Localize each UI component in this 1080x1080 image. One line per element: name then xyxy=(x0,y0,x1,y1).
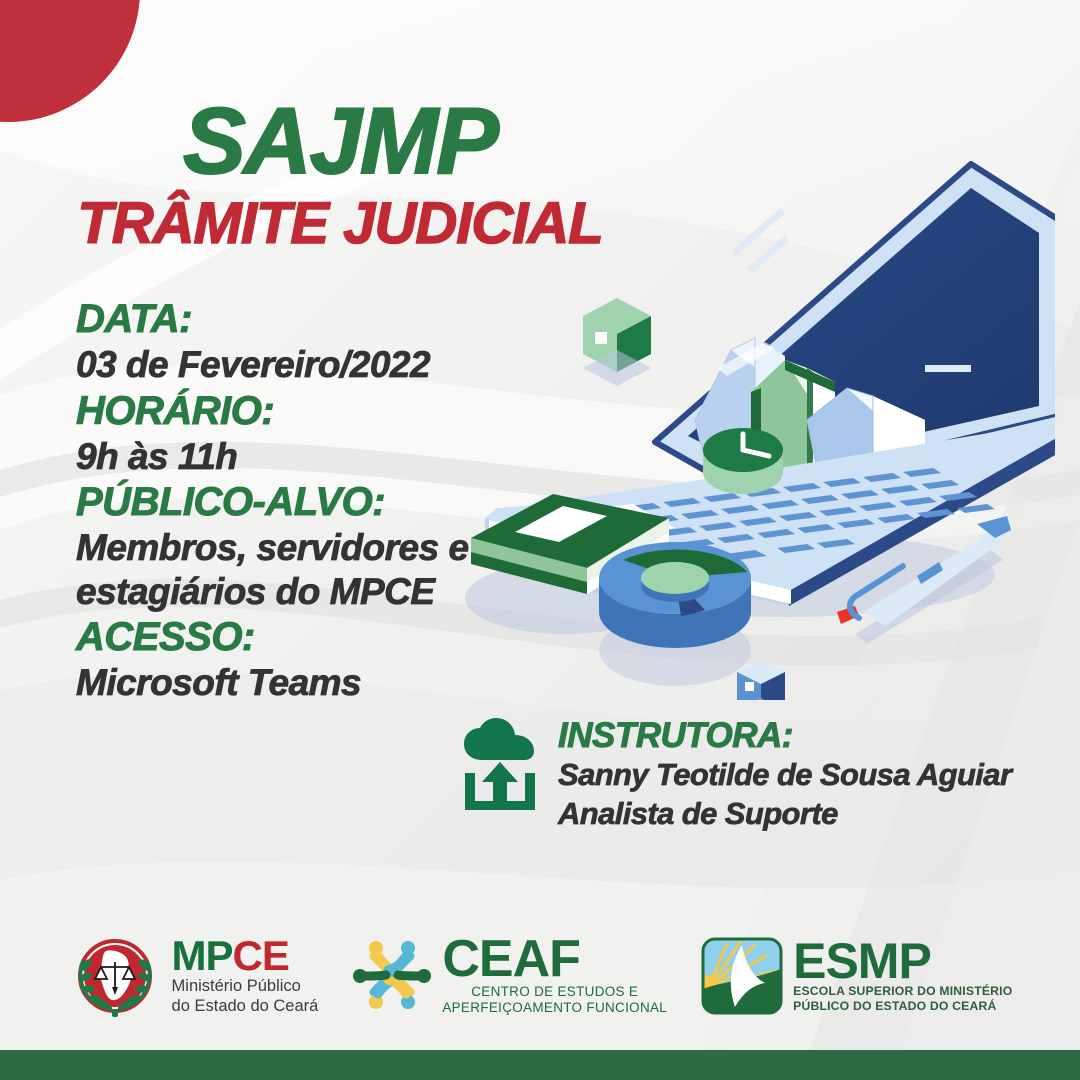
logo-row: MPCE Ministério Público do Estado do Cea… xyxy=(0,918,1080,1034)
donut-chart-decoration xyxy=(599,542,751,686)
ceaf-subtitle-line1: CENTRO DE ESTUDOS E xyxy=(442,984,667,1000)
mpce-subtitle-line1: Ministério Público xyxy=(172,976,319,996)
instructor-role: Analista de Suporte xyxy=(558,795,1011,834)
logo-ceaf: CEAF CENTRO DE ESTUDOS E APERFEIÇOAMENTO… xyxy=(352,936,667,1016)
mpce-emblem-icon xyxy=(68,929,162,1023)
mpce-word-part1: MP xyxy=(172,932,233,979)
esmp-subtitle-line1: ESCOLA SUPERIOR DO MINISTÉRIO xyxy=(793,984,1012,999)
mpce-wordmark: MPCE xyxy=(172,936,319,976)
instructor-label: INSTRUTORA: xyxy=(558,716,1011,756)
access-label: ACESSO: xyxy=(76,614,546,661)
audience-value-line2: estagiários do MPCE xyxy=(76,570,546,614)
cloud-upload-icon xyxy=(462,718,540,810)
blue-cube-decoration xyxy=(737,660,785,700)
mpce-subtitle-line2: do Estado do Ceará xyxy=(172,996,319,1016)
clock-decoration xyxy=(703,428,783,494)
logo-esmp: ESMP ESCOLA SUPERIOR DO MINISTÉRIO PÚBLI… xyxy=(701,935,1012,1017)
instructor-name: Sanny Teotilde de Sousa Aguiar xyxy=(558,756,1011,795)
event-details: DATA: 03 de Fevereiro/2022 HORÁRIO: 9h à… xyxy=(76,296,546,705)
instructor-block: INSTRUTORA: Sanny Teotilde de Sousa Agui… xyxy=(462,714,1042,834)
date-value: 03 de Fevereiro/2022 xyxy=(76,343,546,387)
time-value: 9h às 11h xyxy=(76,435,546,479)
mpce-word-part2: CE xyxy=(233,932,289,979)
esmp-wordmark: ESMP xyxy=(793,938,1012,984)
green-cube-decoration xyxy=(583,298,651,386)
bottom-accent-bar xyxy=(0,1050,1080,1080)
date-label: DATA: xyxy=(76,296,546,343)
ceaf-subtitle-line2: APERFEIÇOAMENTO FUNCIONAL xyxy=(442,1000,667,1016)
audience-value-line1: Membros, servidores e xyxy=(76,526,546,570)
ceaf-people-icon xyxy=(352,936,432,1016)
esmp-subtitle-line2: PÚBLICO DO ESTADO DO CEARÁ xyxy=(793,999,1012,1014)
audience-label: PÚBLICO-ALVO: xyxy=(76,479,546,526)
time-label: HORÁRIO: xyxy=(76,388,546,435)
poster-canvas: SAJMP TRÂMITE JUDICIAL DATA: 03 de Fever… xyxy=(0,0,1080,1080)
logo-mpce: MPCE Ministério Público do Estado do Cea… xyxy=(68,929,319,1023)
access-value: Microsoft Teams xyxy=(76,661,546,705)
ceaf-wordmark: CEAF xyxy=(442,936,667,984)
esmp-emblem-icon xyxy=(701,935,783,1017)
